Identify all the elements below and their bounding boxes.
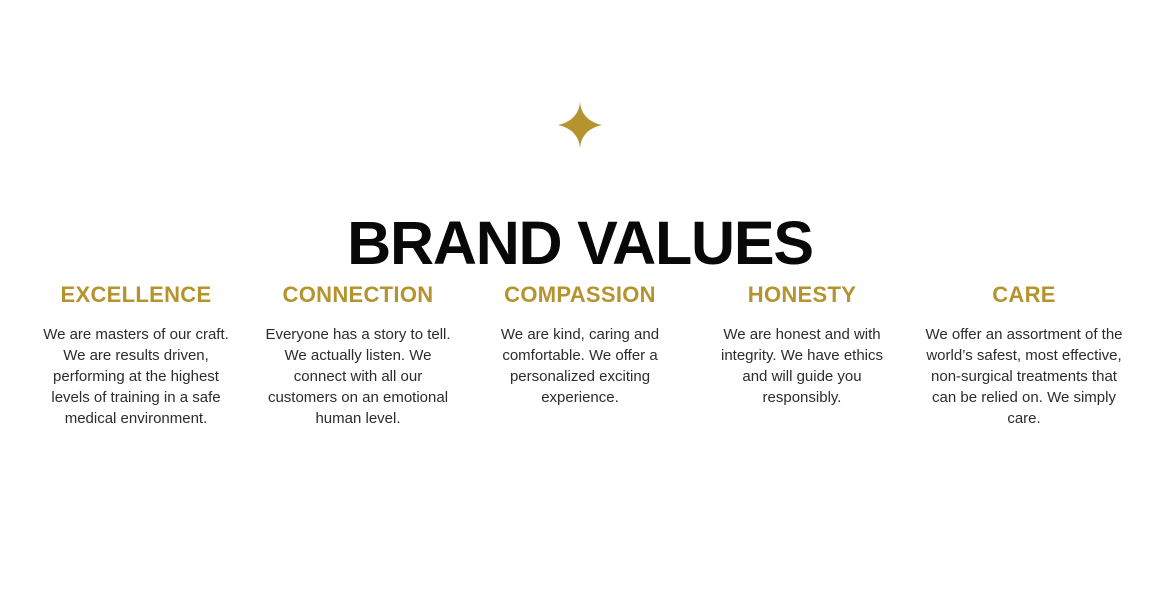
ornament-container	[0, 100, 1160, 150]
values-columns: EXCELLENCE We are masters of our craft. …	[30, 282, 1130, 429]
value-heading: EXCELLENCE	[61, 282, 212, 308]
value-heading: CARE	[992, 282, 1056, 308]
value-column-excellence: EXCELLENCE We are masters of our craft. …	[30, 282, 242, 429]
value-description: We offer an assortment of the world’s sa…	[918, 324, 1130, 429]
value-heading: HONESTY	[748, 282, 856, 308]
value-description: We are kind, caring and comfortable. We …	[481, 324, 679, 408]
value-column-connection: CONNECTION Everyone has a story to tell.…	[252, 282, 464, 429]
four-point-star-icon	[558, 100, 602, 150]
value-column-honesty: HONESTY We are honest and with integrity…	[696, 282, 908, 408]
value-description: We are honest and with integrity. We hav…	[703, 324, 901, 408]
value-description: We are masters of our craft. We are resu…	[31, 324, 241, 429]
value-heading: COMPASSION	[504, 282, 656, 308]
value-description: Everyone has a story to tell. We actuall…	[254, 324, 462, 429]
brand-values-slide: BRAND VALUES EXCELLENCE We are masters o…	[0, 0, 1160, 600]
value-heading: CONNECTION	[283, 282, 434, 308]
page-title: BRAND VALUES	[0, 211, 1160, 275]
value-column-care: CARE We offer an assortment of the world…	[918, 282, 1130, 429]
value-column-compassion: COMPASSION We are kind, caring and comfo…	[474, 282, 686, 408]
